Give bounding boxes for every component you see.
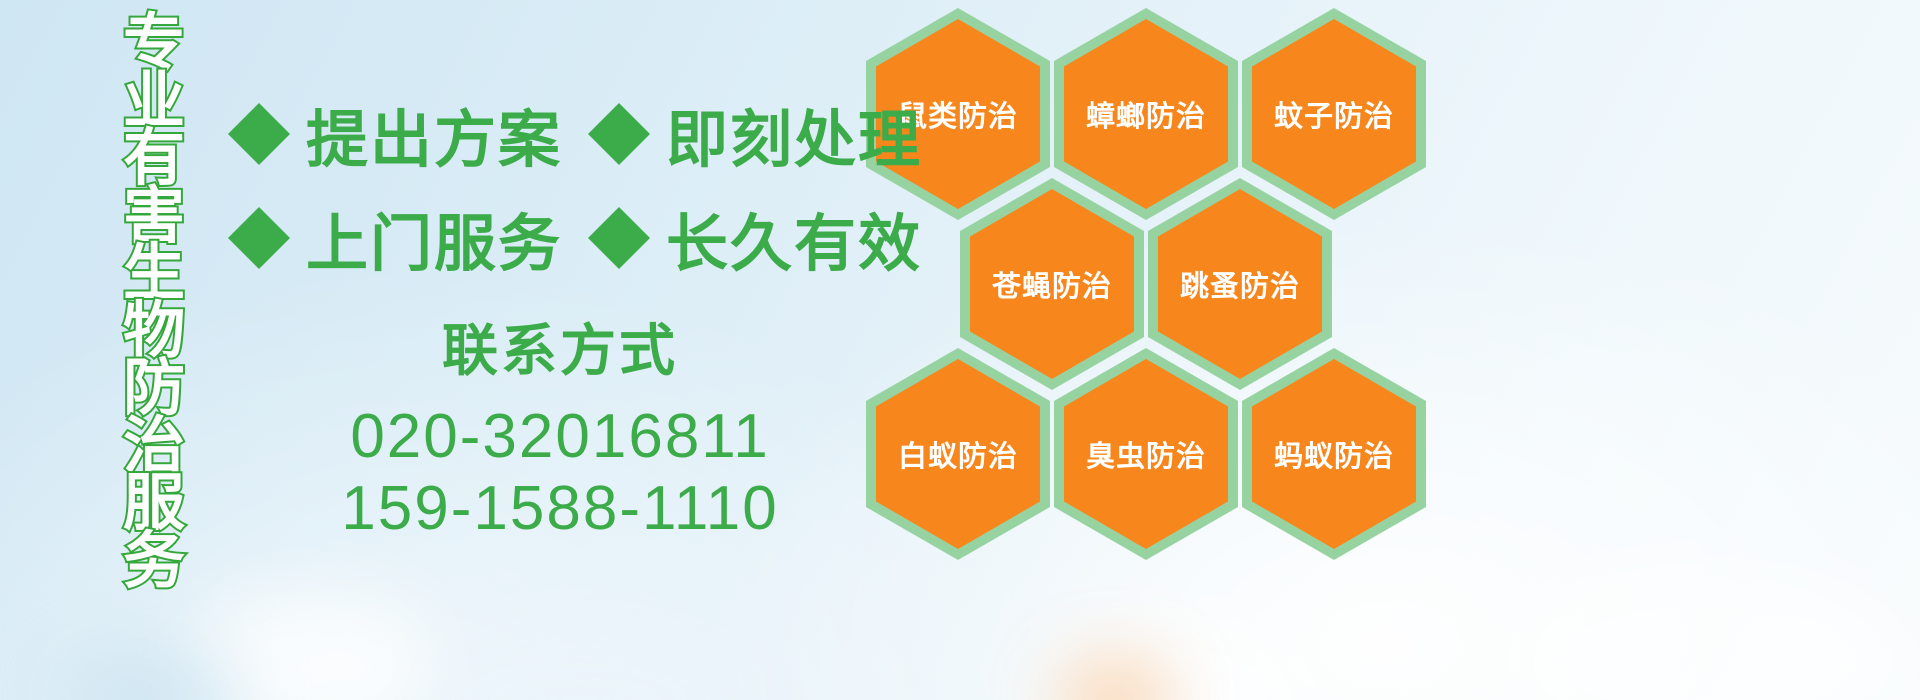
contact-heading: 联系方式 <box>300 306 820 387</box>
service-hex-label: 白蚁防治 <box>898 433 1018 475</box>
hex-inner: 蚊子防治 <box>1252 19 1416 209</box>
hex-inner: 白蚁防治 <box>876 359 1040 549</box>
service-hex-fly-control[interactable]: 苍蝇防治 <box>960 178 1144 390</box>
vertical-headline-char: 治 <box>123 417 185 477</box>
feature-item-immediate-handling: 即刻处理 <box>588 89 922 179</box>
vertical-headline-char: 有 <box>123 129 185 189</box>
vertical-headline-char: 服 <box>123 474 185 534</box>
background-blob <box>180 590 440 700</box>
background-blob <box>1500 560 1920 700</box>
hex-inner: 蟑螂防治 <box>1064 19 1228 209</box>
background-blob <box>1055 655 1175 700</box>
service-hex-cockroach-control[interactable]: 蟑螂防治 <box>1054 8 1238 220</box>
promotional-banner: 专 业 有 害 生 物 防 治 服 务 提出方案 即刻处理 上门服务 <box>0 0 1920 700</box>
background-blob <box>60 650 240 700</box>
background-blob <box>420 640 740 700</box>
vertical-headline-char: 务 <box>123 532 185 592</box>
feature-row: 提出方案 即刻处理 <box>228 82 922 186</box>
service-hex-flea-control[interactable]: 跳蚤防治 <box>1148 178 1332 390</box>
hex-inner: 苍蝇防治 <box>970 189 1134 379</box>
diamond-bullet-icon <box>588 176 650 238</box>
diamond-bullet-icon <box>228 72 290 134</box>
feature-item-door-to-door-service: 上门服务 <box>228 193 562 283</box>
phone-number-mobile[interactable]: 159-1588-1110 <box>300 473 820 545</box>
feature-item-propose-plan: 提出方案 <box>228 89 562 179</box>
hex-inner: 跳蚤防治 <box>1158 189 1322 379</box>
hex-inner: 臭虫防治 <box>1064 359 1228 549</box>
feature-label: 提出方案 <box>306 89 562 179</box>
diamond-bullet-icon <box>588 72 650 134</box>
vertical-headline-char: 物 <box>123 302 185 362</box>
feature-label: 长久有效 <box>666 193 922 283</box>
contact-block: 联系方式 020-32016811 159-1588-1110 <box>300 306 820 545</box>
vertical-headline: 专 业 有 害 生 物 防 治 服 务 <box>108 14 200 589</box>
service-hex-label: 蟑螂防治 <box>1086 93 1206 135</box>
service-hex-ant-control[interactable]: 蚂蚁防治 <box>1242 348 1426 560</box>
diamond-bullet-icon <box>228 176 290 238</box>
service-hex-label: 臭虫防治 <box>1086 433 1206 475</box>
feature-item-long-lasting-effect: 长久有效 <box>588 193 922 283</box>
hex-inner: 蚂蚁防治 <box>1252 359 1416 549</box>
service-hex-label: 苍蝇防治 <box>992 263 1112 305</box>
vertical-headline-char: 业 <box>123 72 185 132</box>
service-hex-termite-control[interactable]: 白蚁防治 <box>866 348 1050 560</box>
vertical-headline-char: 专 <box>123 14 185 74</box>
phone-number-landline[interactable]: 020-32016811 <box>300 401 820 473</box>
service-hex-mosquito-control[interactable]: 蚊子防治 <box>1242 8 1426 220</box>
feature-row: 上门服务 长久有效 <box>228 186 922 290</box>
service-hex-label: 蚊子防治 <box>1274 93 1394 135</box>
feature-label: 即刻处理 <box>666 89 922 179</box>
vertical-headline-char: 生 <box>123 244 185 304</box>
feature-label: 上门服务 <box>306 193 562 283</box>
background-blob <box>1020 615 1320 700</box>
service-hex-bedbug-control[interactable]: 臭虫防治 <box>1054 348 1238 560</box>
vertical-headline-char: 防 <box>123 359 185 419</box>
vertical-headline-char: 害 <box>123 187 185 247</box>
service-honeycomb: 鼠类防治 蟑螂防治 蚊子防治 苍蝇防治 跳蚤防治 白蚁防治 <box>862 0 1462 560</box>
service-hex-label: 蚂蚁防治 <box>1274 433 1394 475</box>
feature-list: 提出方案 即刻处理 上门服务 长久有效 <box>228 82 922 290</box>
service-hex-label: 跳蚤防治 <box>1180 263 1300 305</box>
